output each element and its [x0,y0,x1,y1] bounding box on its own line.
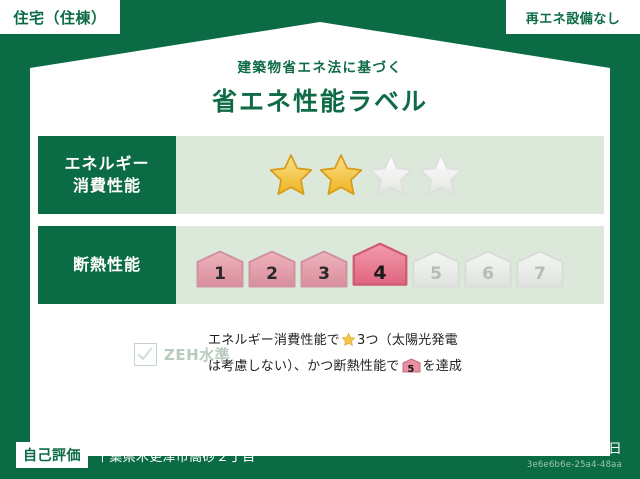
desc-line1-part-b: 3つ（太陽光発電 [357,333,458,348]
insulation-level-number: 7 [534,264,546,284]
star-empty-icon [368,152,414,198]
insulation-level-badge-5: 5 [412,250,460,288]
label-footer: 自己評価 千葉県木更津市高砂２丁目 評価日 2025年7月29日 3e6e6b6… [0,431,640,479]
building-type-tag: 住宅（住棟） [0,0,120,34]
metric-rows: エネルギー 消費性能 断熱性能 1234567 [38,136,604,316]
star-empty-icon [418,152,464,198]
row-energy-label: エネルギー 消費性能 [38,136,176,214]
record-id: 3e6e6b6e-25a4-48aa [472,460,622,470]
star-filled-icon [318,152,364,198]
achievement-description-line1: エネルギー消費性能で3つ（太陽光発電 [208,330,462,356]
inline-level-badge-number: 5 [407,364,414,375]
row-energy-performance: エネルギー 消費性能 [38,136,604,214]
insulation-level-badge-6: 6 [464,250,512,288]
insulation-level-number: 6 [482,264,494,284]
insulation-level-badge-4: 4 [352,242,408,288]
star-filled-icon [268,152,314,198]
page-title: 省エネ性能ラベル [0,82,640,118]
desc-line1-part-a: エネルギー消費性能で [208,333,340,348]
assessment-type-badge: 自己評価 [16,442,88,468]
insulation-level-number: 2 [266,264,278,284]
insulation-level-badge-7: 7 [516,250,564,288]
desc-line2-part-b: を達成 [423,359,463,374]
desc-line2-part-a: は考慮しない）、かつ断熱性能で [208,359,400,374]
inline-star-icon [341,332,356,356]
row-insulation-body: 1234567 [176,226,604,304]
insulation-level-badge-1: 1 [196,250,244,288]
row-energy-body [176,136,604,214]
footer-right-group: 評価日 2025年7月29日 3e6e6b6e-25a4-48aa [472,437,622,470]
insulation-level-number: 3 [318,264,330,284]
inline-level-badge: 5 [402,358,421,373]
evaluation-date: 評価日 2025年7月29日 [472,437,622,457]
row-insulation-label: 断熱性能 [38,226,176,304]
insulation-level-number: 4 [373,262,386,284]
footer-left-group: 自己評価 千葉県木更津市高砂２丁目 [16,442,256,468]
insulation-level-badge-3: 3 [300,250,348,288]
row-energy-label-line2: 消費性能 [73,175,141,197]
property-address: 千葉県木更津市高砂２丁目 [96,446,256,465]
achievement-description: エネルギー消費性能で3つ（太陽光発電 は考慮しない）、かつ断熱性能で5を達成 [208,330,462,379]
zeh-standard-indicator: ZEH水準 [38,343,208,366]
insulation-level-number: 1 [214,264,226,284]
row-insulation-label-line1: 断熱性能 [73,254,141,276]
achievement-description-line2: は考慮しない）、かつ断熱性能で5を達成 [208,356,462,379]
checkbox-icon [134,343,157,366]
row-insulation-performance: 断熱性能 1234567 [38,226,604,304]
insulation-level-scale: 1234567 [176,242,564,288]
insulation-level-number: 5 [430,264,442,284]
label-title-block: 建築物省エネ法に基づく 省エネ性能ラベル [0,56,640,118]
insulation-level-badge-2: 2 [248,250,296,288]
zeh-note-block: ZEH水準 エネルギー消費性能で3つ（太陽光発電 は考慮しない）、かつ断熱性能で… [38,330,604,379]
title-subtitle: 建築物省エネ法に基づく [0,56,640,76]
row-energy-label-line1: エネルギー [64,153,149,175]
renewable-energy-tag: 再エネ設備なし [506,0,640,34]
energy-performance-label: 住宅（住棟） 再エネ設備なし 建築物省エネ法に基づく 省エネ性能ラベル エネルギ… [0,0,640,479]
star-rating [176,152,464,198]
